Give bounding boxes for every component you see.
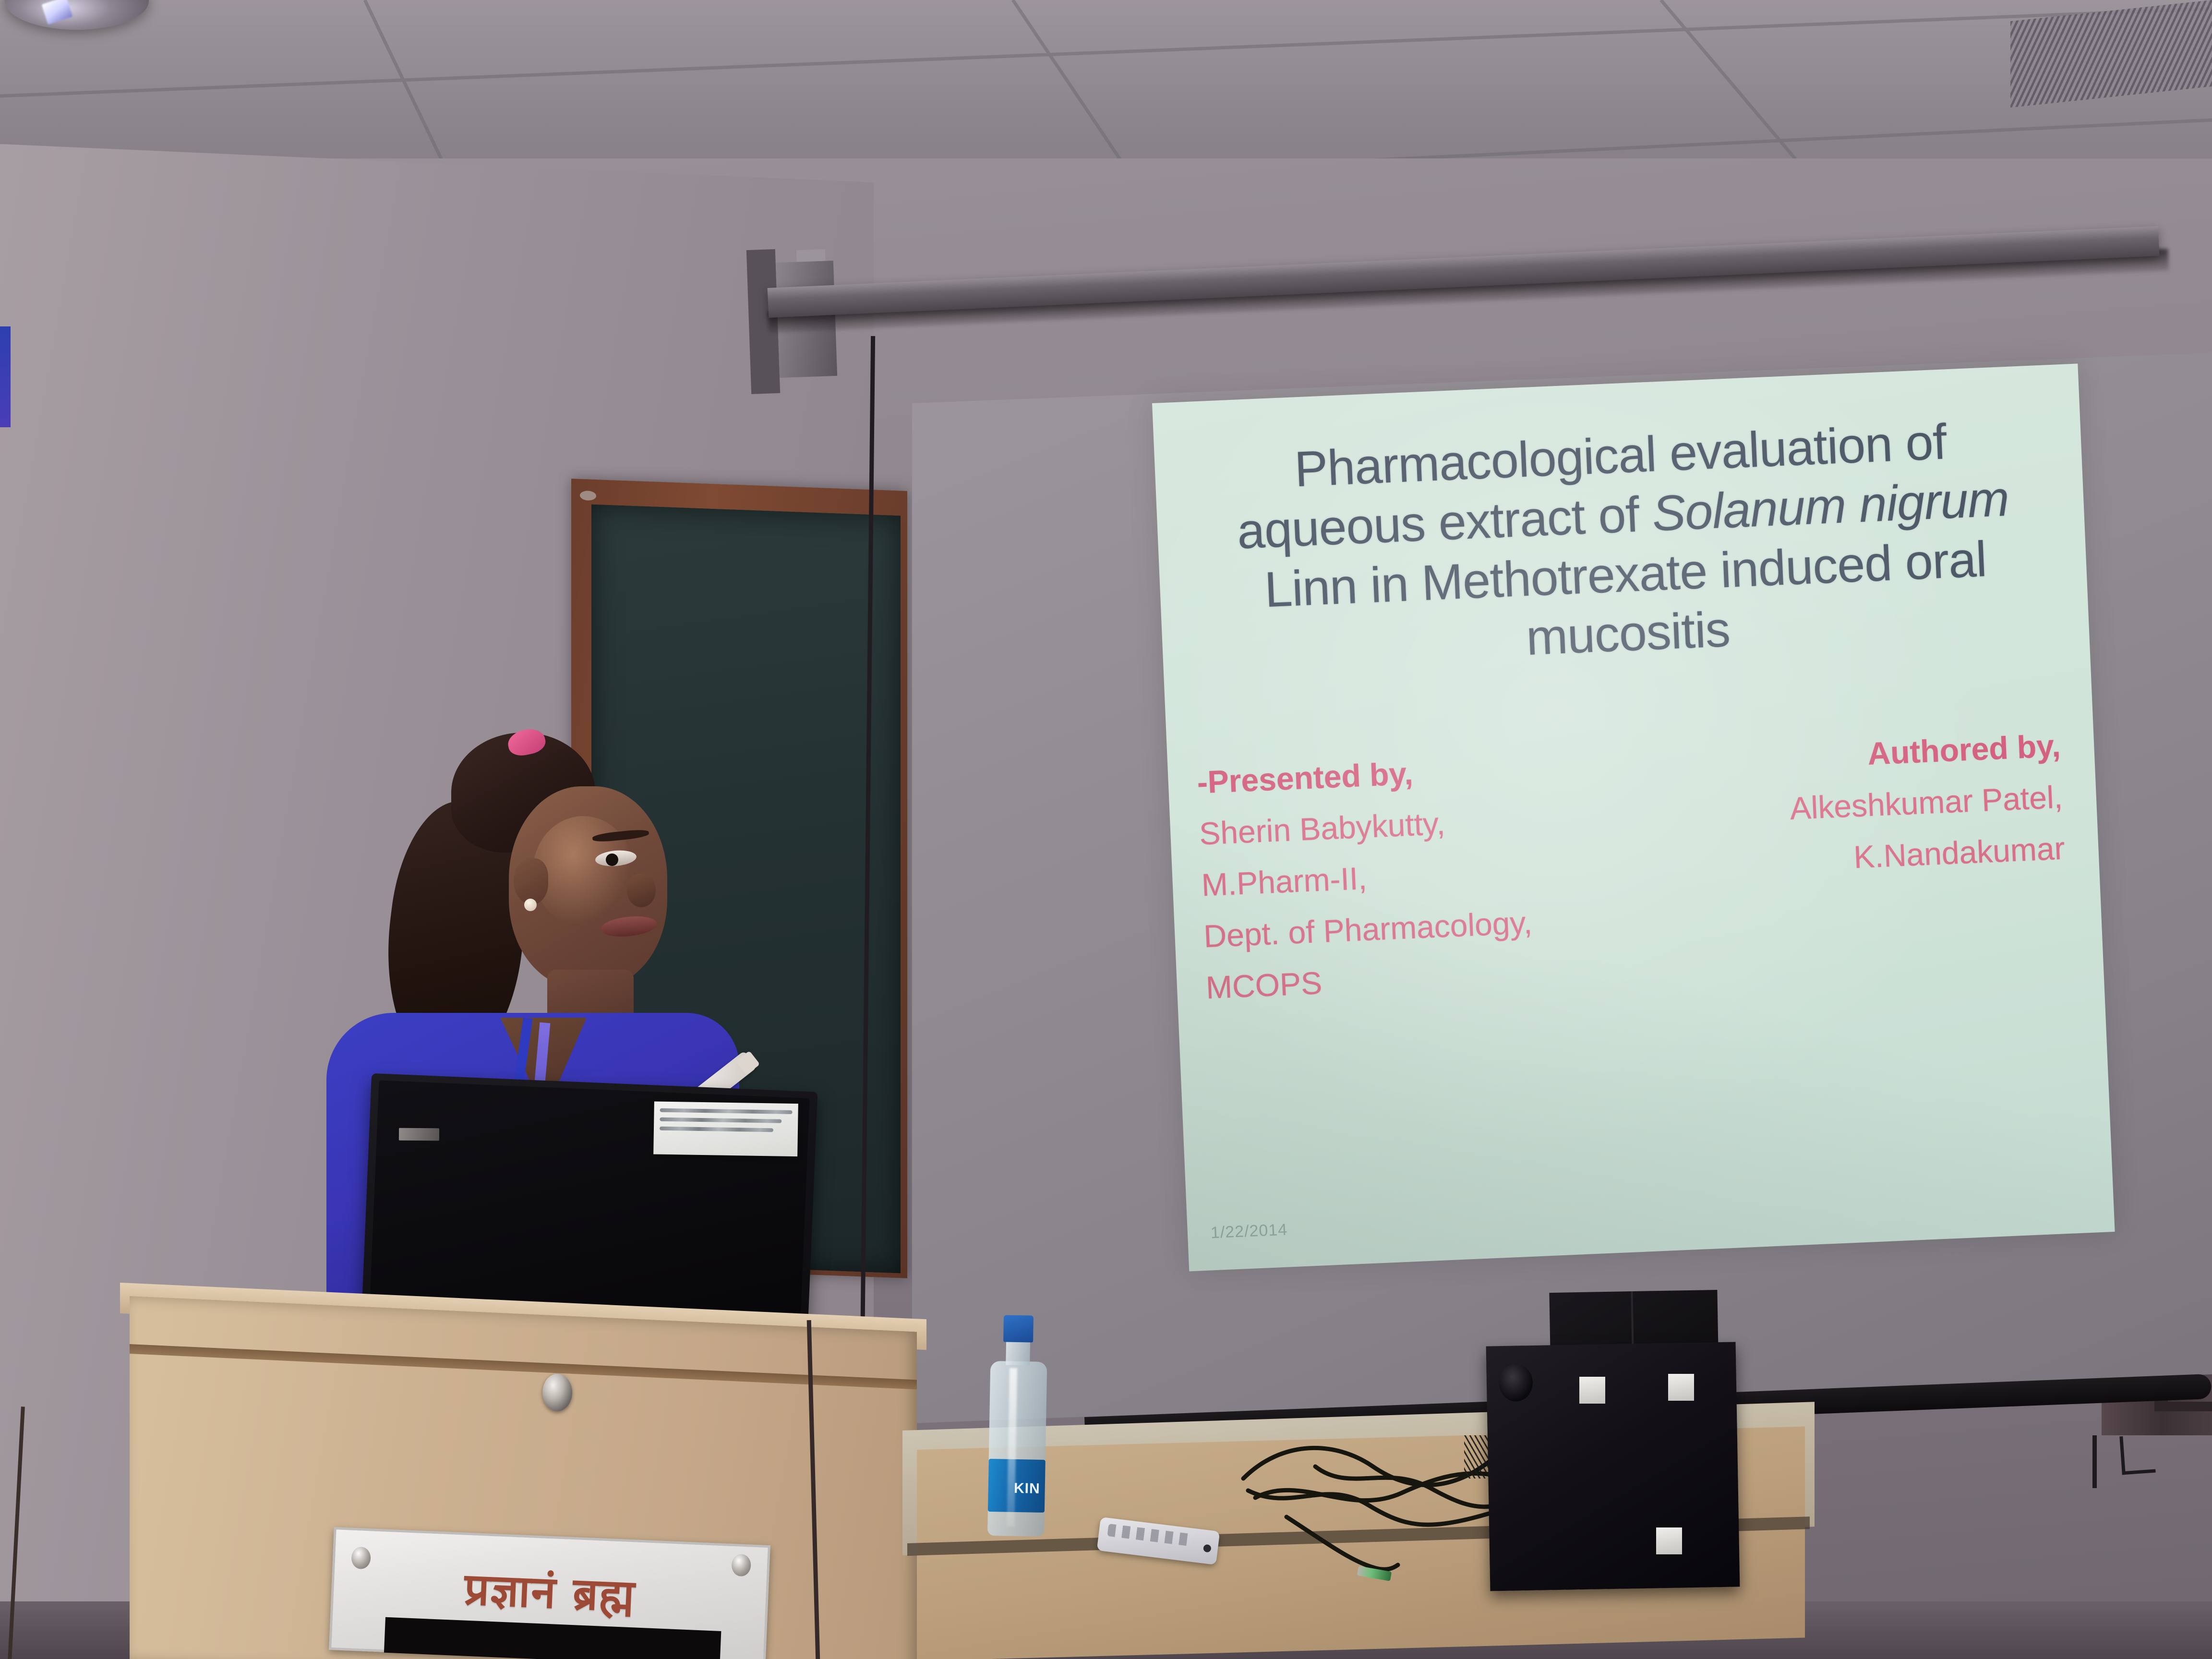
screen-hook-leg — [2092, 1435, 2097, 1488]
slide-title: Pharmacological evaluation of aqueous ex… — [1173, 408, 2075, 683]
equipment-label-tag — [1656, 1527, 1682, 1554]
note-line — [660, 1127, 773, 1132]
slide-byline-row: -Presented by, Sherin Babykutty, M.Pharm… — [1167, 719, 2104, 1015]
equipment-label-tag — [1668, 1374, 1694, 1401]
equipment-label-tag — [1579, 1377, 1605, 1404]
equipment-box-front — [1486, 1342, 1740, 1591]
water-bottle[interactable]: KIN — [985, 1315, 1051, 1537]
bottle-cap-icon[interactable] — [1003, 1315, 1034, 1342]
podium-sanskrit-sign: प्रज्ञानं ब्रह्म — [329, 1527, 770, 1659]
nose — [627, 874, 656, 907]
speaker-port-icon — [1499, 1364, 1533, 1402]
note-line — [660, 1108, 793, 1114]
chalkboard-screw-icon — [580, 491, 596, 501]
light-filament-icon — [42, 0, 73, 24]
authored-by-block: Authored by, Alkeshkumar Patel, K.Nandak… — [1787, 720, 2070, 988]
bottle-brand-text: KIN — [1014, 1480, 1040, 1497]
remote-buttons[interactable] — [1107, 1524, 1194, 1547]
ear — [514, 858, 548, 904]
earring-icon — [524, 899, 537, 911]
laptop-brand-logo-icon — [399, 1128, 439, 1141]
note-line — [660, 1118, 781, 1123]
handwritten-note — [653, 1101, 798, 1156]
remote-ir-led-icon — [1203, 1544, 1212, 1553]
screen-hook-icon — [2119, 1434, 2155, 1475]
bottle-label: KIN — [988, 1459, 1046, 1513]
projected-slide: Pharmacological evaluation of aqueous ex… — [1152, 363, 2115, 1271]
slide-date-stamp: 1/22/2014 — [1210, 1221, 1288, 1243]
slide-title-species-name: Solanum nigrum — [1651, 471, 2010, 542]
presentation-photograph: Pharmacological evaluation of aqueous ex… — [0, 0, 2212, 1659]
pupil — [606, 854, 618, 866]
podium-knob-icon[interactable] — [542, 1374, 572, 1411]
bottle-neck — [1006, 1340, 1030, 1366]
slide-title-line-4: mucositis — [1525, 601, 1731, 666]
presented-by-block: -Presented by, Sherin Babykutty, M.Pharm… — [1196, 743, 1536, 1013]
wall-blue-marker — [0, 326, 11, 427]
